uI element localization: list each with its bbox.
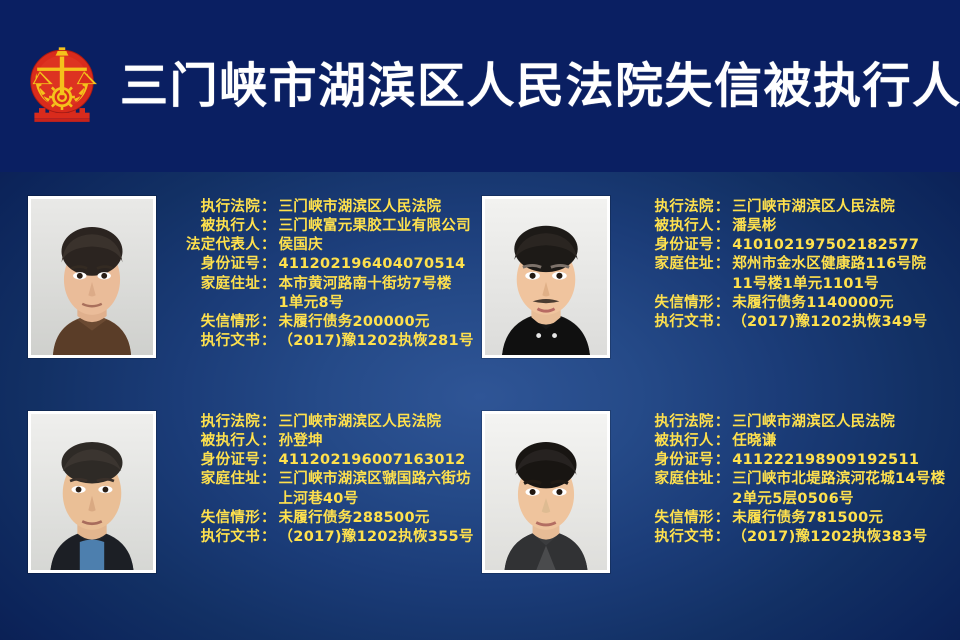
field-value: 三门峡富元果胶工业有限公司	[279, 217, 474, 236]
field-address-continued: 家庭住址 ： 1单元8号	[166, 294, 474, 313]
field-label: 执行文书	[166, 528, 260, 547]
record-card: 执行法院 ： 三门峡市湖滨区人民法院 被执行人 ： 任晓谦 身份证号 ： 411…	[482, 407, 946, 616]
field-address-continued: 家庭住址 ： 上河巷40号	[166, 490, 474, 509]
field-value: 潘昊彬	[732, 217, 945, 236]
field-colon: ：	[260, 451, 279, 470]
record-fields: 执行法院 ： 三门峡市湖滨区人民法院 被执行人 ： 三门峡富元果胶工业有限公司 …	[166, 196, 474, 351]
field-value: 1单元8号	[279, 294, 474, 313]
person-photo	[482, 411, 610, 573]
record-card: 执行法院 ： 三门峡市湖滨区人民法院 被执行人 ： 三门峡富元果胶工业有限公司 …	[28, 192, 474, 401]
field-colon: ：	[714, 255, 733, 274]
field-value: 未履行债务781500元	[732, 509, 945, 528]
field-label: 家庭住址	[620, 470, 714, 489]
field-label: 身份证号	[166, 451, 260, 470]
field-court: 执行法院 ： 三门峡市湖滨区人民法院	[166, 198, 474, 217]
field-situation: 失信情形 ： 未履行债务200000元	[166, 313, 474, 332]
field-value: 三门峡市湖滨区虢国路六街坊	[279, 470, 474, 489]
field-colon: ：	[260, 413, 279, 432]
field-value: 11号楼1单元1101号	[732, 275, 945, 294]
field-colon: ：	[260, 236, 279, 255]
field-label: 执行文书	[166, 332, 260, 351]
field-label: 身份证号	[166, 255, 260, 274]
field-value: 411222198909192511	[732, 451, 945, 470]
field-colon: ：	[714, 217, 733, 236]
field-label: 执行法院	[620, 413, 714, 432]
field-document: 执行文书 ： （2017)豫1202执恢349号	[620, 313, 946, 332]
field-label: 失信情形	[620, 294, 714, 313]
field-situation: 失信情形 ： 未履行债务288500元	[166, 509, 474, 528]
field-label: 执行法院	[620, 198, 714, 217]
record-card: 执行法院 ： 三门峡市湖滨区人民法院 被执行人 ： 孙登坤 身份证号 ： 411…	[28, 407, 474, 616]
field-document: 执行文书 ： （2017)豫1202执恢355号	[166, 528, 474, 547]
field-colon: ：	[260, 528, 279, 547]
field-label: 失信情形	[166, 509, 260, 528]
field-label: 执行法院	[166, 413, 260, 432]
field-value: 任晓谦	[732, 432, 945, 451]
field-label: 家庭住址	[620, 255, 714, 274]
field-colon: ：	[714, 313, 733, 332]
field-colon: ：	[714, 294, 733, 313]
field-colon: ：	[260, 275, 279, 294]
field-court: 执行法院 ： 三门峡市湖滨区人民法院	[620, 198, 946, 217]
field-value: 未履行债务288500元	[279, 509, 474, 528]
field-situation: 失信情形 ： 未履行债务1140000元	[620, 294, 946, 313]
field-situation: 失信情形 ： 未履行债务781500元	[620, 509, 946, 528]
field-label: 身份证号	[620, 451, 714, 470]
field-label: 家庭住址	[166, 470, 260, 489]
field-colon: ：	[260, 313, 279, 332]
field-label: 执行法院	[166, 198, 260, 217]
record-fields: 执行法院 ： 三门峡市湖滨区人民法院 被执行人 ： 任晓谦 身份证号 ： 411…	[620, 411, 946, 547]
field-value: 未履行债务200000元	[279, 313, 474, 332]
field-label: 执行文书	[620, 313, 714, 332]
field-document: 执行文书 ： （2017)豫1202执恢383号	[620, 528, 946, 547]
field-value: （2017)豫1202执恢281号	[279, 332, 474, 351]
field-subject: 被执行人 ： 孙登坤	[166, 432, 474, 451]
field-id-number: 身份证号 ： 411202196007163012	[166, 451, 474, 470]
field-address: 家庭住址 ： 三门峡市北堤路滨河花城14号楼	[620, 470, 946, 489]
records-grid: 执行法院 ： 三门峡市湖滨区人民法院 被执行人 ： 三门峡富元果胶工业有限公司 …	[0, 172, 960, 640]
person-photo	[28, 411, 156, 573]
header-bar: 三门峡市湖滨区人民法院失信被执行人名单	[0, 0, 960, 172]
field-colon: ：	[714, 413, 733, 432]
field-value: 本市黄河路南十街坊7号楼	[279, 275, 474, 294]
field-subject: 被执行人 ： 潘昊彬	[620, 217, 946, 236]
field-colon: ：	[260, 255, 279, 274]
field-colon: ：	[714, 509, 733, 528]
field-value: （2017)豫1202执恢383号	[732, 528, 945, 547]
field-label: 失信情形	[166, 313, 260, 332]
field-colon: ：	[260, 432, 279, 451]
field-label: 家庭住址	[166, 275, 260, 294]
field-value: 411202196007163012	[279, 451, 474, 470]
field-colon: ：	[714, 470, 733, 489]
field-court: 执行法院 ： 三门峡市湖滨区人民法院	[166, 413, 474, 432]
field-value: 侯国庆	[279, 236, 474, 255]
field-colon: ：	[714, 236, 733, 255]
field-label: 被执行人	[166, 432, 260, 451]
field-document: 执行文书 ： （2017)豫1202执恢281号	[166, 332, 474, 351]
poster-root: 三门峡市湖滨区人民法院失信被执行人名单	[0, 0, 960, 640]
field-label: 身份证号	[620, 236, 714, 255]
field-address-continued: 家庭住址 ： 2单元5层0506号	[620, 490, 946, 509]
field-id-number: 身份证号 ： 411222198909192511	[620, 451, 946, 470]
field-colon: ：	[714, 528, 733, 547]
field-colon: ：	[260, 198, 279, 217]
field-label: 执行文书	[620, 528, 714, 547]
field-value: 三门峡市湖滨区人民法院	[732, 413, 945, 432]
field-label: 失信情形	[620, 509, 714, 528]
field-legal-rep: 法定代表人 ： 侯国庆	[166, 236, 474, 255]
field-value: 未履行债务1140000元	[732, 294, 945, 313]
field-value: 郑州市金水区健康路116号院	[732, 255, 945, 274]
field-colon: ：	[714, 451, 733, 470]
record-card: 执行法院 ： 三门峡市湖滨区人民法院 被执行人 ： 潘昊彬 身份证号 ： 410…	[482, 192, 946, 401]
field-value: （2017)豫1202执恢349号	[732, 313, 945, 332]
field-address: 家庭住址 ： 本市黄河路南十街坊7号楼	[166, 275, 474, 294]
field-label: 被执行人	[166, 217, 260, 236]
field-label: 法定代表人	[166, 236, 260, 255]
field-value: （2017)豫1202执恢355号	[279, 528, 474, 547]
field-address: 家庭住址 ： 郑州市金水区健康路116号院	[620, 255, 946, 274]
field-value: 三门峡市湖滨区人民法院	[732, 198, 945, 217]
field-id-number: 身份证号 ： 410102197502182577	[620, 236, 946, 255]
field-label: 被执行人	[620, 432, 714, 451]
field-colon: ：	[260, 470, 279, 489]
field-value: 三门峡市北堤路滨河花城14号楼	[732, 470, 945, 489]
record-fields: 执行法院 ： 三门峡市湖滨区人民法院 被执行人 ： 孙登坤 身份证号 ： 411…	[166, 411, 474, 547]
field-colon: ：	[260, 332, 279, 351]
person-photo	[28, 196, 156, 358]
field-value: 上河巷40号	[279, 490, 474, 509]
chinese-court-emblem-icon	[16, 40, 108, 132]
field-colon: ：	[714, 198, 733, 217]
field-address-continued: 家庭住址 ： 11号楼1单元1101号	[620, 275, 946, 294]
field-value: 孙登坤	[279, 432, 474, 451]
field-value: 2单元5层0506号	[732, 490, 945, 509]
field-address: 家庭住址 ： 三门峡市湖滨区虢国路六街坊	[166, 470, 474, 489]
field-value: 410102197502182577	[732, 236, 945, 255]
page-title: 三门峡市湖滨区人民法院失信被执行人名单	[120, 62, 960, 110]
field-colon: ：	[260, 217, 279, 236]
field-subject: 被执行人 ： 任晓谦	[620, 432, 946, 451]
field-court: 执行法院 ： 三门峡市湖滨区人民法院	[620, 413, 946, 432]
record-fields: 执行法院 ： 三门峡市湖滨区人民法院 被执行人 ： 潘昊彬 身份证号 ： 410…	[620, 196, 946, 332]
field-colon: ：	[714, 432, 733, 451]
field-value: 411202196404070514	[279, 255, 474, 274]
field-colon: ：	[260, 509, 279, 528]
field-value: 三门峡市湖滨区人民法院	[279, 198, 474, 217]
field-subject: 被执行人 ： 三门峡富元果胶工业有限公司	[166, 217, 474, 236]
field-value: 三门峡市湖滨区人民法院	[279, 413, 474, 432]
person-photo	[482, 196, 610, 358]
field-label: 被执行人	[620, 217, 714, 236]
field-id-number: 身份证号 ： 411202196404070514	[166, 255, 474, 274]
